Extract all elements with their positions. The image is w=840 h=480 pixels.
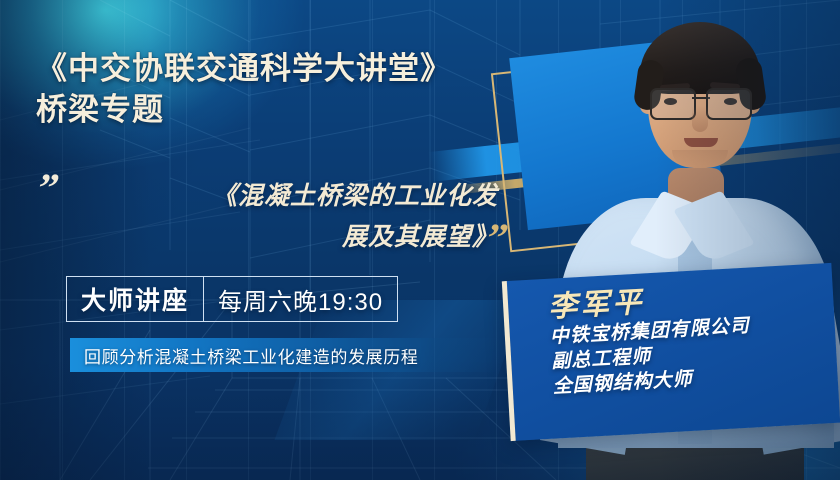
portrait-nose	[692, 106, 708, 132]
speaker-info-card: 李军平 中铁宝桥集团有限公司 副总工程师 全国钢结构大师	[502, 263, 840, 441]
poster-title: 《中交协联交通科学大讲堂》 桥梁专题	[36, 48, 556, 130]
quote-open-mark: ”	[34, 168, 63, 208]
glasses-lens-right	[706, 88, 752, 120]
glasses-lens-left	[650, 88, 696, 120]
portrait-hair	[640, 22, 760, 94]
lecture-schedule-chip: 大师讲座 每周六晚19:30	[66, 276, 398, 322]
portrait-mouth	[684, 138, 718, 147]
poster-canvas: 《中交协联交通科学大讲堂》 桥梁专题 ” 《混凝土桥梁的工业化发 展及其展望》 …	[0, 0, 840, 480]
lecture-schedule-label: 每周六晚19:30	[204, 277, 397, 321]
poster-subtitle: 《混凝土桥梁的工业化发 展及其展望》	[78, 176, 498, 258]
lecture-type-label: 大师讲座	[67, 277, 204, 321]
poster-tagline: 回顾分析混凝土桥梁工业化建造的发展历程	[70, 338, 500, 372]
portrait-chin	[672, 150, 728, 166]
